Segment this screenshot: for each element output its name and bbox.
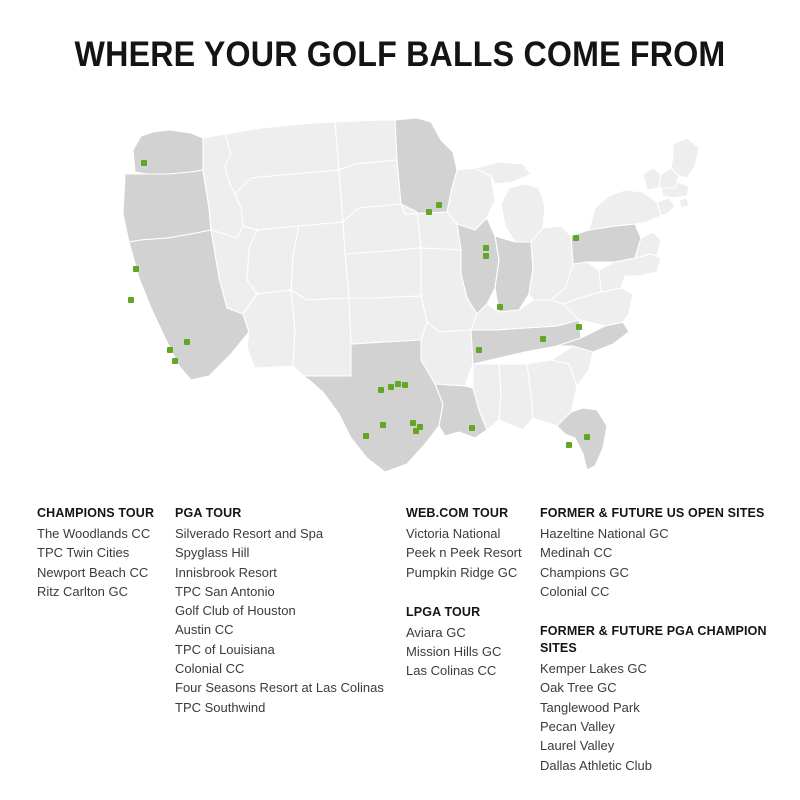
state-vermont: [643, 168, 661, 190]
course-dot-mission-hills: [184, 339, 190, 345]
course-dot-pumpkin-ridge: [141, 160, 147, 166]
list-item: Victoria National: [406, 524, 536, 543]
legend-list-us-open-sites: Hazeltine National GC Medinah CC Champio…: [540, 524, 790, 601]
list-item: Peek n Peek Resort: [406, 543, 536, 562]
list-item: Tanglewood Park: [540, 698, 790, 717]
state-indiana: [495, 236, 533, 312]
list-item: Colonial CC: [540, 582, 790, 601]
course-dot-tennessee-east: [540, 336, 546, 342]
course-dot-aviara: [167, 347, 173, 353]
list-item: Pumpkin Ridge GC: [406, 563, 536, 582]
course-dot-dallas-athletic-club: [402, 382, 408, 388]
course-dot-spyglass-hill: [128, 297, 134, 303]
legend-column-major-sites: FORMER & FUTURE US OPEN SITES Hazeltine …: [540, 505, 790, 797]
state-new-mexico: [291, 290, 351, 376]
list-item: Spyglass Hill: [175, 543, 400, 562]
list-item: Mission Hills GC: [406, 642, 536, 661]
legend-list-pga-champion-sites: Kemper Lakes GC Oak Tree GC Tanglewood P…: [540, 659, 790, 775]
legend-list-lpga-tour: Aviara GC Mission Hills GC Las Colinas C…: [406, 623, 536, 681]
legend-group-champions-tour: CHAMPIONS TOUR The Woodlands CC TPC Twin…: [37, 505, 177, 601]
list-item: TPC San Antonio: [175, 582, 400, 601]
list-item: Medinah CC: [540, 543, 790, 562]
list-item: Aviara GC: [406, 623, 536, 642]
state-rhode-island: [679, 198, 689, 208]
legend: CHAMPIONS TOUR The Woodlands CC TPC Twin…: [0, 505, 800, 795]
legend-column-webcom-lpga: WEB.COM TOUR Victoria National Peek n Pe…: [406, 505, 536, 703]
list-item: Las Colinas CC: [406, 661, 536, 680]
map-container: [95, 108, 710, 488]
legend-heading-pga-tour: PGA TOUR: [175, 505, 400, 522]
list-item: Laurel Valley: [540, 736, 790, 755]
course-dot-kemper-lakes: [483, 253, 489, 259]
state-colorado: [291, 222, 349, 300]
legend-heading-pga-champion-sites: FORMER & FUTURE PGA CHAMPION SITES: [540, 623, 790, 657]
state-new-york: [589, 190, 661, 230]
list-item: Newport Beach CC: [37, 563, 177, 582]
list-item: Hazeltine National GC: [540, 524, 790, 543]
course-dot-four-seasons-las-colinas: [388, 384, 394, 390]
list-item: Dallas Athletic Club: [540, 756, 790, 775]
state-kansas: [345, 248, 421, 298]
page-title: WHERE YOUR GOLF BALLS COME FROM: [32, 34, 768, 76]
course-dot-las-colinas-cc: [395, 381, 401, 387]
list-item: Ritz Carlton GC: [37, 582, 177, 601]
list-item: The Woodlands CC: [37, 524, 177, 543]
legend-group-lpga-tour: LPGA TOUR Aviara GC Mission Hills GC Las…: [406, 604, 536, 681]
list-item: Pecan Valley: [540, 717, 790, 736]
list-item: Austin CC: [175, 620, 400, 639]
course-dot-victoria-national: [497, 304, 503, 310]
course-dot-golf-club-houston: [410, 420, 416, 426]
course-dot-austin-cc: [380, 422, 386, 428]
course-dot-tanglewood-park: [576, 324, 582, 330]
legend-heading-webcom-tour: WEB.COM TOUR: [406, 505, 536, 522]
state-oregon: [123, 170, 211, 242]
legend-heading-champions-tour: CHAMPIONS TOUR: [37, 505, 177, 522]
course-dot-tpc-southwind: [476, 347, 482, 353]
list-item: Golf Club of Houston: [175, 601, 400, 620]
course-dot-newport-beach: [172, 358, 178, 364]
state-maine: [671, 138, 699, 178]
state-connecticut: [657, 198, 675, 216]
legend-group-pga-tour: PGA TOUR Silverado Resort and Spa Spygla…: [175, 505, 400, 717]
list-item: Colonial CC: [175, 659, 400, 678]
course-dot-peek-n-peek: [584, 434, 590, 440]
legend-list-webcom-tour: Victoria National Peek n Peek Resort Pum…: [406, 524, 536, 582]
list-item: TPC Twin Cities: [37, 543, 177, 562]
course-dot-colonial-cc: [378, 387, 384, 393]
course-dot-laurel-valley: [573, 235, 579, 241]
state-minnesota: [395, 118, 457, 214]
legend-list-pga-tour: Silverado Resort and Spa Spyglass Hill I…: [175, 524, 400, 717]
united-states-map: [95, 108, 710, 488]
list-item: Four Seasons Resort at Las Colinas: [175, 678, 400, 697]
legend-heading-lpga-tour: LPGA TOUR: [406, 604, 536, 621]
course-dot-tpc-twin-cities: [436, 202, 442, 208]
course-dot-champions-gc: [417, 424, 423, 430]
course-dot-innisbrook: [566, 442, 572, 448]
course-dot-tpc-louisiana: [469, 425, 475, 431]
state-washington: [133, 130, 203, 174]
legend-group-pga-champion-sites: FORMER & FUTURE PGA CHAMPION SITES Kempe…: [540, 623, 790, 775]
list-item: Innisbrook Resort: [175, 563, 400, 582]
list-item: Kemper Lakes GC: [540, 659, 790, 678]
list-item: Silverado Resort and Spa: [175, 524, 400, 543]
state-wyoming: [235, 170, 343, 230]
state-pennsylvania: [571, 224, 641, 264]
list-item: Champions GC: [540, 563, 790, 582]
course-dot-silverado: [133, 266, 139, 272]
course-dot-pecan-valley: [363, 433, 369, 439]
legend-list-champions-tour: The Woodlands CC TPC Twin Cities Newport…: [37, 524, 177, 601]
legend-column-pga-tour: PGA TOUR Silverado Resort and Spa Spygla…: [175, 505, 400, 739]
list-item: TPC of Louisiana: [175, 640, 400, 659]
state-oklahoma: [349, 296, 427, 344]
course-dot-hazeltine: [426, 209, 432, 215]
legend-column-champions-tour: CHAMPIONS TOUR The Woodlands CC TPC Twin…: [37, 505, 177, 623]
legend-heading-us-open-sites: FORMER & FUTURE US OPEN SITES: [540, 505, 790, 522]
legend-group-us-open-sites: FORMER & FUTURE US OPEN SITES Hazeltine …: [540, 505, 790, 601]
infographic-page: WHERE YOUR GOLF BALLS COME FROM: [0, 0, 800, 800]
course-dot-medinah: [483, 245, 489, 251]
list-item: Oak Tree GC: [540, 678, 790, 697]
legend-group-webcom-tour: WEB.COM TOUR Victoria National Peek n Pe…: [406, 505, 536, 582]
state-shapes: [123, 118, 699, 472]
list-item: TPC Southwind: [175, 698, 400, 717]
title-bar: WHERE YOUR GOLF BALLS COME FROM: [0, 34, 800, 76]
